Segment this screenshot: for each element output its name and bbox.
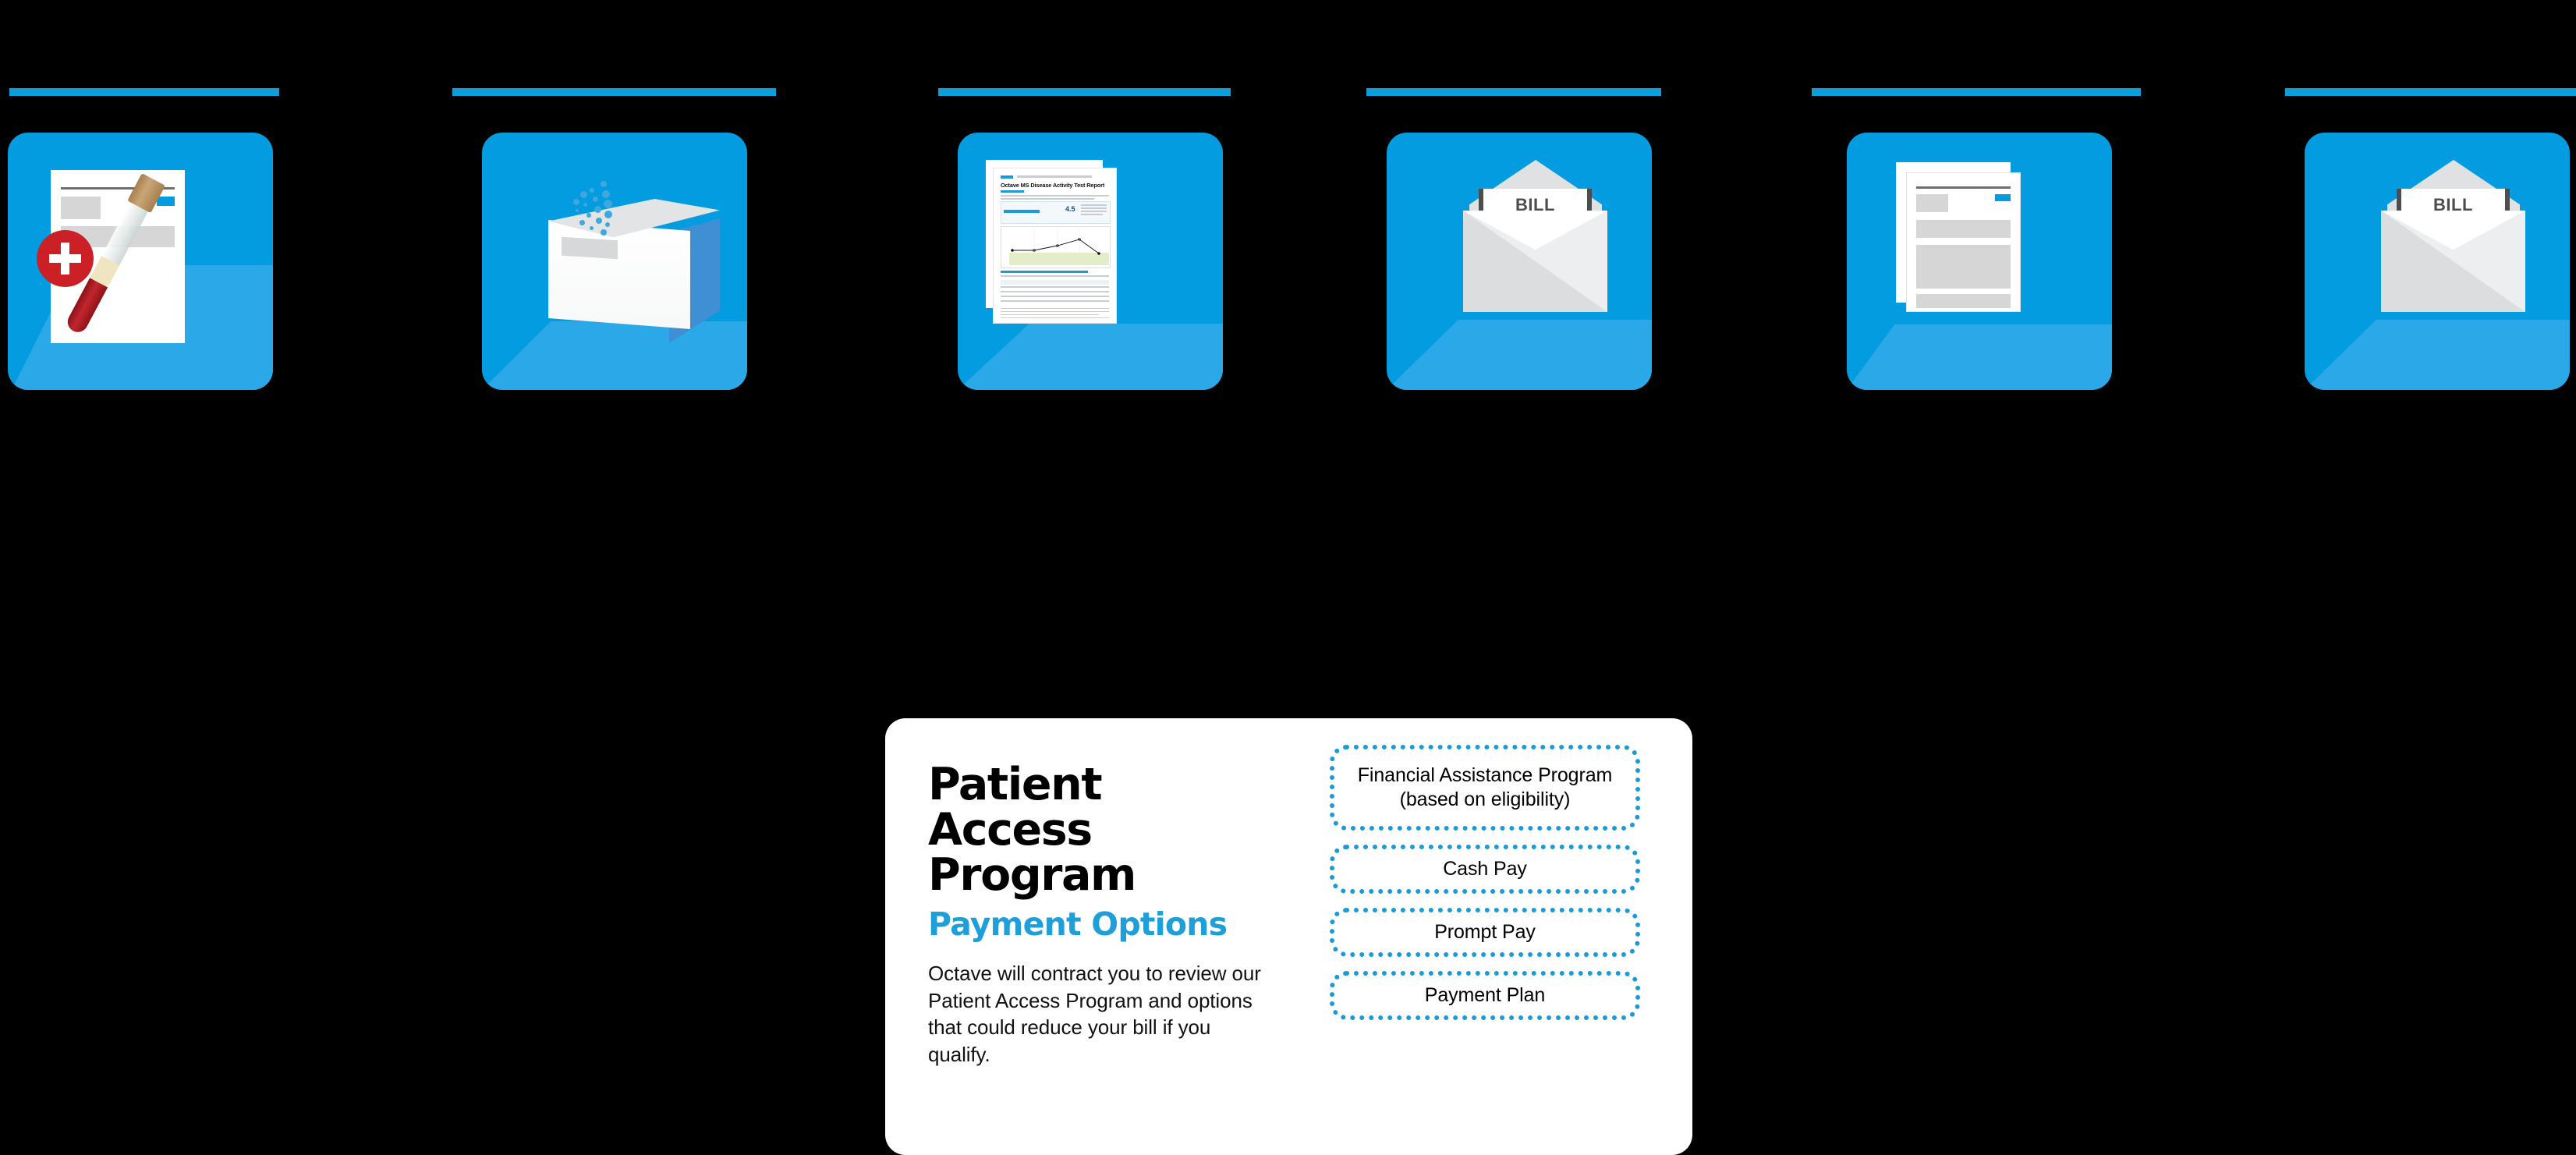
tile-shadow [482, 321, 747, 390]
step-rule-6 [2285, 88, 2576, 96]
report-trend-chart-icon [1001, 227, 1110, 267]
report-title: Octave MS Disease Activity Test Report [1001, 182, 1104, 189]
box-dot-pattern-icon [569, 181, 616, 236]
card-subtitle: Payment Options [928, 905, 1302, 943]
payment-option-cash-pay[interactable]: Cash Pay [1330, 845, 1640, 894]
step-rule-4 [1366, 88, 1661, 96]
report-front-page-icon: Octave MS Disease Activity Test Report 4… [994, 168, 1116, 323]
payment-option-financial-assistance[interactable]: Financial Assistance Program (based on e… [1330, 745, 1640, 831]
step-tile-lab-requisition [8, 133, 273, 390]
step-tile-test-report: Octave MS Disease Activity Test Report 4… [958, 133, 1223, 390]
payment-option-prompt-pay[interactable]: Prompt Pay [1330, 908, 1640, 957]
page-title: Patient Access Program [928, 762, 1302, 898]
tile-shadow [1387, 320, 1652, 390]
step-rule-5 [1812, 88, 2141, 96]
tile-shadow [958, 324, 1223, 390]
payment-option-payment-plan[interactable]: Payment Plan [1330, 971, 1640, 1020]
payment-options-list: Financial Assistance Program (based on e… [1330, 745, 1649, 1034]
step-tile-bill-envelope-2: BILL [2305, 133, 2570, 390]
step-rule-1 [9, 88, 279, 96]
card-heading-group: Patient Access Program Payment Options [928, 762, 1302, 943]
report-score-value: 4.5 [1065, 205, 1075, 213]
card-body-text: Octave will contract you to review our P… [928, 960, 1263, 1068]
patient-access-program-card: Patient Access Program Payment Options O… [885, 718, 1692, 1155]
box-front-icon [548, 220, 690, 329]
step-tile-documents-stack [1847, 133, 2112, 390]
step-rule-3 [938, 88, 1231, 96]
tile-shadow [1847, 324, 2112, 390]
step-rule-2 [452, 88, 776, 96]
step-tile-bill-envelope-1: BILL [1387, 133, 1652, 390]
tile-shadow [2305, 320, 2570, 390]
step-tile-shipping-box [482, 133, 747, 390]
document-front-page-icon [1907, 173, 2020, 311]
process-step-strip: Octave MS Disease Activity Test Report 4… [0, 0, 2576, 437]
